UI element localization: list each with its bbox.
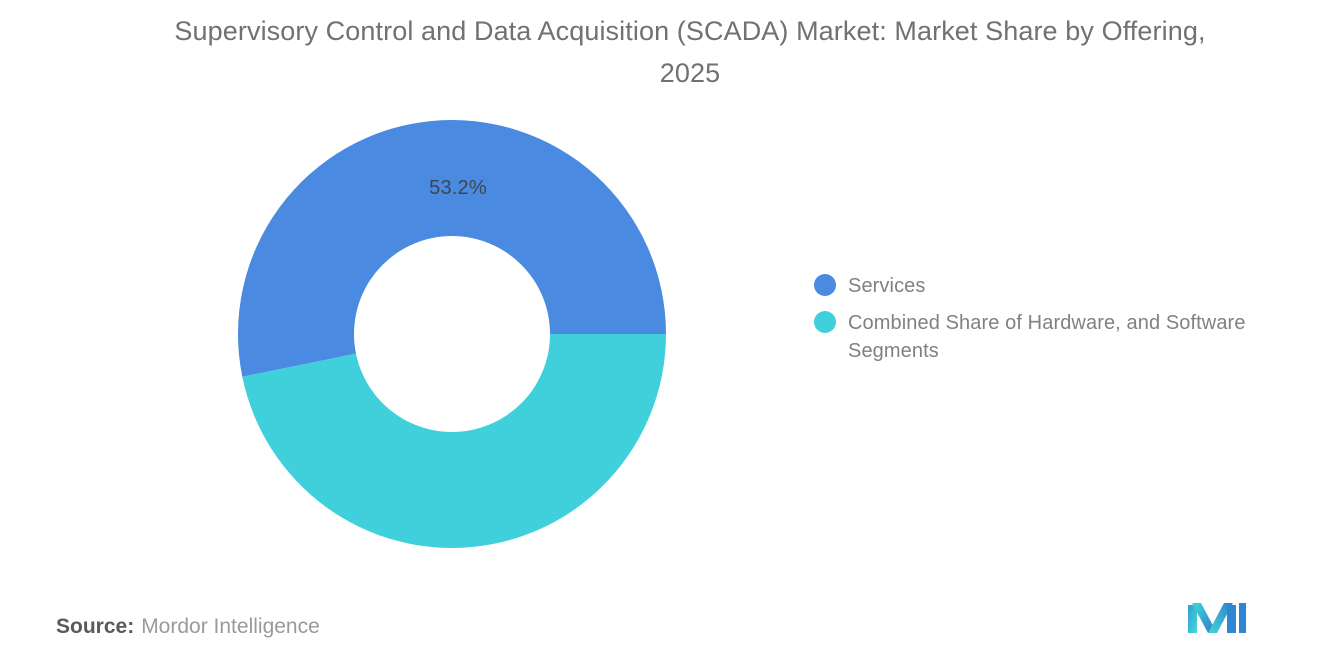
- source-line: Source:Mordor Intelligence: [56, 612, 320, 642]
- donut-chart: 53.2%: [238, 120, 666, 548]
- legend-item-label: Services: [848, 272, 926, 300]
- legend-color-swatch-icon: [814, 274, 836, 296]
- chart-legend: Services Combined Share of Hardware, and…: [814, 272, 1304, 374]
- chart-title: Supervisory Control and Data Acquisition…: [150, 10, 1230, 94]
- source-label: Source:: [56, 615, 134, 638]
- legend-color-swatch-icon: [814, 311, 836, 333]
- legend-item-services[interactable]: Services: [814, 272, 1304, 300]
- source-value: Mordor Intelligence: [141, 615, 320, 638]
- legend-item-combined-hardware-software[interactable]: Combined Share of Hardware, and Software…: [814, 309, 1304, 365]
- donut-hole: [354, 236, 550, 432]
- mordor-intelligence-logo-icon: [1186, 599, 1248, 635]
- donut-slice-label-services: 53.2%: [393, 177, 523, 200]
- legend-item-label: Combined Share of Hardware, and Software…: [848, 309, 1304, 365]
